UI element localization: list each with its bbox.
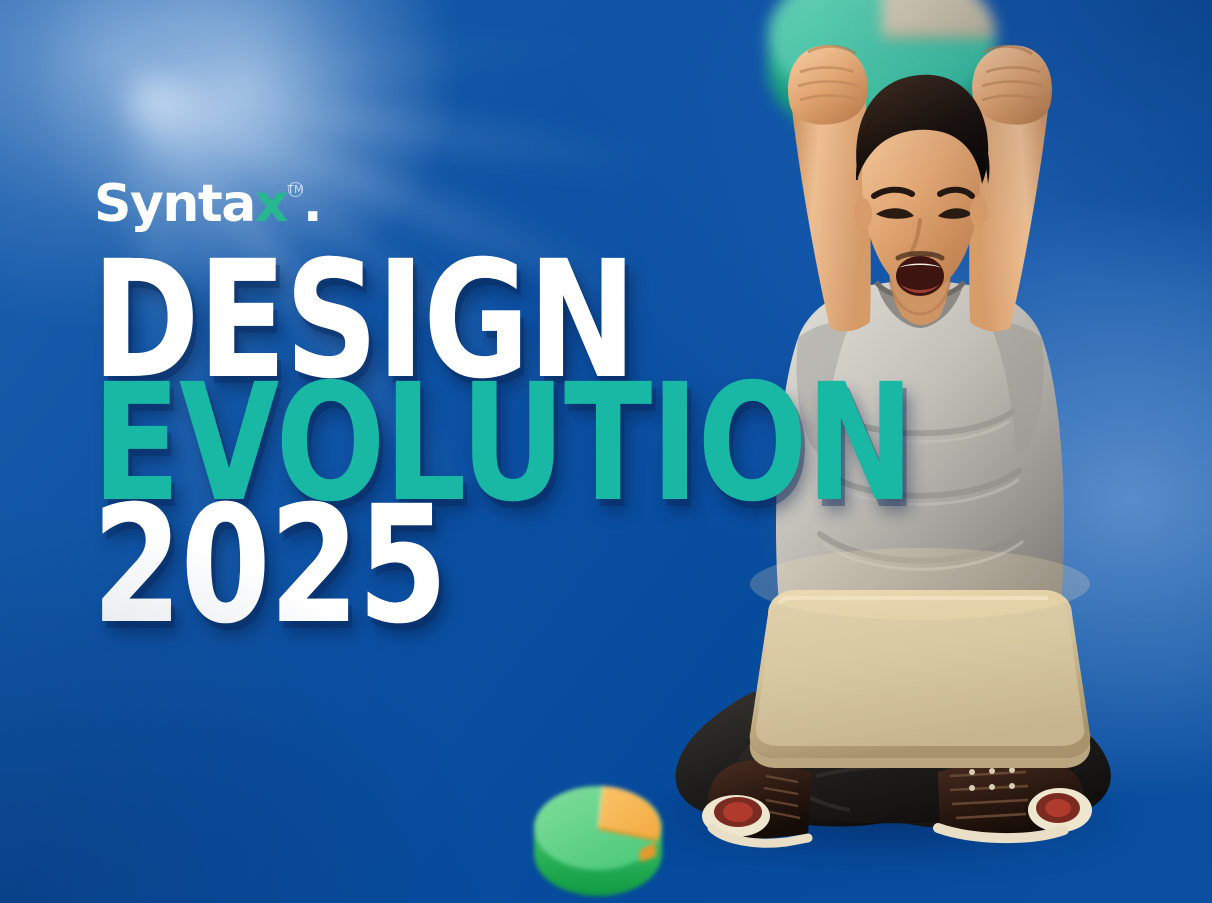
logo-word-accent-x: x	[255, 178, 287, 230]
brand-logo[interactable]: Synta x TM .	[94, 178, 321, 230]
logo-period: .	[303, 178, 321, 230]
poster-canvas: Synta x TM . DESIGN EVOLUTION 2025	[0, 0, 1212, 903]
headline-block: DESIGN EVOLUTION 2025	[92, 252, 732, 636]
pie-chart-bottom-icon	[528, 758, 668, 898]
logo-word-main: Synta	[94, 178, 255, 230]
trademark-icon: TM	[288, 182, 303, 197]
headline-line-year: 2025	[92, 497, 604, 636]
